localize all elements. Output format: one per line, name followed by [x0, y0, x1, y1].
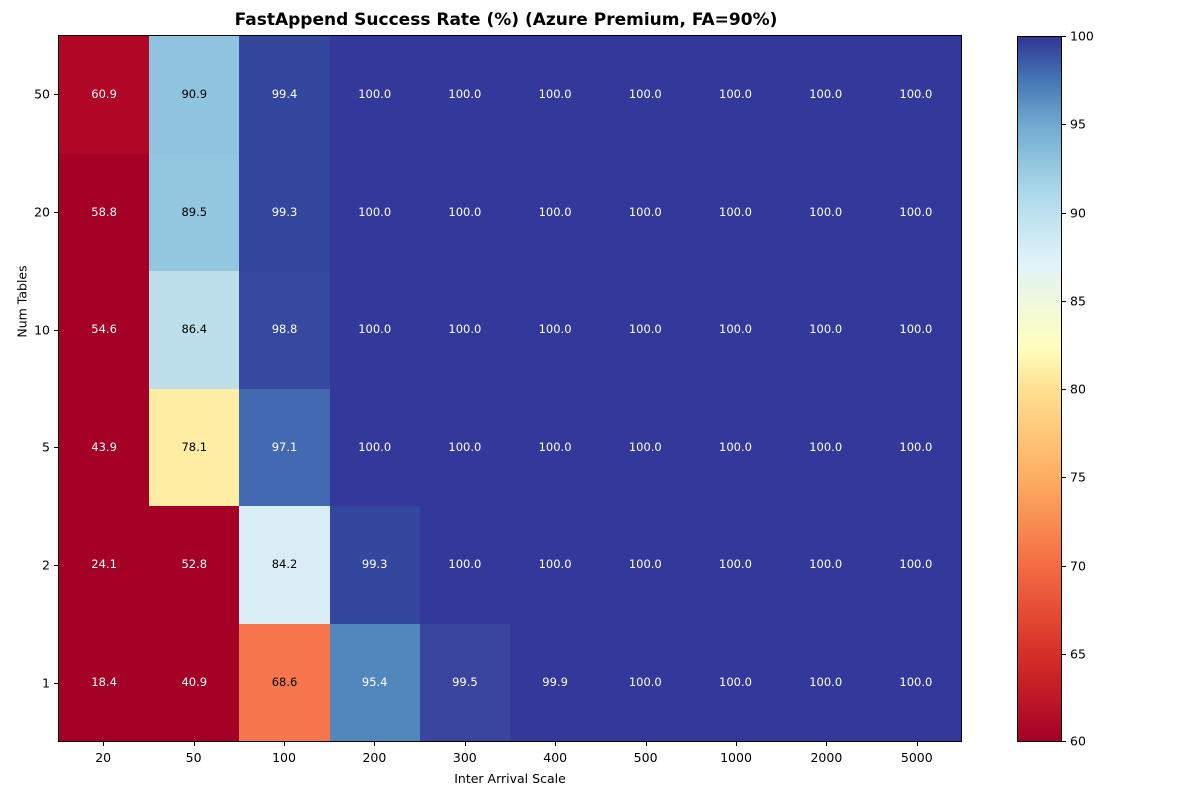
- heatmap-cell[interactable]: 58.8: [59, 154, 149, 272]
- heatmap-cell[interactable]: 60.9: [59, 36, 149, 154]
- heatmap-cell-value: 100.0: [629, 324, 662, 336]
- heatmap-cell-value: 89.5: [181, 207, 207, 219]
- y-tick-label: 20: [0, 204, 50, 219]
- heatmap-cell-value: 86.4: [181, 324, 207, 336]
- heatmap-cell[interactable]: 100.0: [420, 389, 510, 507]
- heatmap-cell-value: 100.0: [539, 324, 572, 336]
- heatmap-cell-value: 100.0: [899, 442, 932, 454]
- heatmap-cell[interactable]: 99.3: [330, 506, 420, 624]
- heatmap-cell-value: 99.3: [272, 207, 298, 219]
- heatmap-cell-value: 100.0: [629, 207, 662, 219]
- heatmap-cell[interactable]: 100.0: [781, 506, 871, 624]
- heatmap-cell[interactable]: 100.0: [871, 506, 961, 624]
- x-tick-mark: [736, 742, 737, 746]
- heatmap-cell[interactable]: 95.4: [330, 624, 420, 742]
- heatmap-cell[interactable]: 100.0: [871, 389, 961, 507]
- colorbar-tick-label: 80: [1070, 382, 1086, 397]
- heatmap-cell[interactable]: 100.0: [781, 624, 871, 742]
- heatmap-cell-value: 58.8: [91, 207, 117, 219]
- x-tick-label: 100: [272, 750, 296, 765]
- y-tick-label: 50: [0, 86, 50, 101]
- heatmap-cell-value: 99.9: [542, 677, 568, 689]
- y-axis-label: Num Tables: [15, 242, 30, 362]
- heatmap-cell-value: 95.4: [362, 677, 388, 689]
- heatmap-cell[interactable]: 100.0: [330, 154, 420, 272]
- figure-canvas: FastAppend Success Rate (%) (Azure Premi…: [0, 0, 1200, 800]
- colorbar-tick-label: 90: [1070, 205, 1086, 220]
- heatmap-cell[interactable]: 100.0: [420, 154, 510, 272]
- y-tick-mark: [54, 330, 58, 331]
- x-tick-label: 5000: [901, 750, 933, 765]
- heatmap-cell-value: 84.2: [272, 559, 298, 571]
- x-tick-label: 300: [453, 750, 477, 765]
- colorbar-tick-label: 60: [1070, 734, 1086, 749]
- x-tick-mark: [374, 742, 375, 746]
- heatmap-cell[interactable]: 100.0: [330, 389, 420, 507]
- heatmap-cell[interactable]: 100.0: [781, 389, 871, 507]
- x-tick-label: 500: [634, 750, 658, 765]
- x-tick-label: 1000: [720, 750, 752, 765]
- x-tick-label: 20: [95, 750, 111, 765]
- heatmap-cell[interactable]: 100.0: [600, 389, 690, 507]
- heatmap-cell-value: 99.3: [362, 559, 388, 571]
- heatmap-grid: 60.990.999.4100.0100.0100.0100.0100.0100…: [59, 36, 961, 741]
- colorbar-tick-mark: [1062, 566, 1066, 567]
- heatmap-cell-value: 52.8: [181, 559, 207, 571]
- heatmap-cell-value: 100.0: [448, 89, 481, 101]
- heatmap-cell[interactable]: 100.0: [420, 36, 510, 154]
- heatmap-cell-value: 100.0: [448, 442, 481, 454]
- heatmap-cell[interactable]: 100.0: [690, 389, 780, 507]
- heatmap-cell[interactable]: 100.0: [690, 271, 780, 389]
- heatmap-cell-value: 100.0: [719, 207, 752, 219]
- y-tick-label: 1: [0, 676, 50, 691]
- heatmap-cell-value: 100.0: [629, 89, 662, 101]
- x-tick-mark: [103, 742, 104, 746]
- colorbar-tick-mark: [1062, 213, 1066, 214]
- heatmap-cell[interactable]: 99.3: [239, 154, 329, 272]
- colorbar-tick-label: 75: [1070, 470, 1086, 485]
- colorbar-tick-label: 85: [1070, 293, 1086, 308]
- colorbar-tick-label: 70: [1070, 558, 1086, 573]
- heatmap-cell[interactable]: 100.0: [690, 624, 780, 742]
- heatmap-cell-value: 100.0: [539, 559, 572, 571]
- heatmap-cell-value: 100.0: [899, 207, 932, 219]
- heatmap-cell[interactable]: 100.0: [600, 624, 690, 742]
- heatmap-cell[interactable]: 100.0: [420, 506, 510, 624]
- heatmap-cell[interactable]: 100.0: [600, 506, 690, 624]
- heatmap-cell-value: 97.1: [272, 442, 298, 454]
- x-tick-mark: [917, 742, 918, 746]
- x-tick-label: 50: [186, 750, 202, 765]
- heatmap-cell[interactable]: 100.0: [510, 271, 600, 389]
- heatmap-cell[interactable]: 100.0: [330, 271, 420, 389]
- heatmap-cell[interactable]: 100.0: [510, 389, 600, 507]
- heatmap-cell-value: 18.4: [91, 677, 117, 689]
- y-tick-mark: [54, 94, 58, 95]
- heatmap-cell[interactable]: 100.0: [781, 154, 871, 272]
- colorbar-tick-label: 65: [1070, 646, 1086, 661]
- y-tick-label: 2: [0, 558, 50, 573]
- heatmap-cell-value: 100.0: [358, 442, 391, 454]
- y-tick-mark: [54, 683, 58, 684]
- heatmap-cell-value: 100.0: [448, 324, 481, 336]
- heatmap-cell-value: 100.0: [719, 677, 752, 689]
- colorbar-tick-mark: [1062, 301, 1066, 302]
- heatmap-cell-value: 100.0: [809, 207, 842, 219]
- heatmap-cell[interactable]: 100.0: [510, 36, 600, 154]
- heatmap-cell[interactable]: 54.6: [59, 271, 149, 389]
- x-tick-mark: [555, 742, 556, 746]
- colorbar-tick-mark: [1062, 36, 1066, 37]
- heatmap-cell[interactable]: 52.8: [149, 506, 239, 624]
- heatmap-cell-value: 100.0: [899, 559, 932, 571]
- colorbar-tick-mark: [1062, 124, 1066, 125]
- colorbar-tick-mark: [1062, 477, 1066, 478]
- heatmap-cell-value: 100.0: [809, 559, 842, 571]
- heatmap-cell[interactable]: 100.0: [600, 154, 690, 272]
- heatmap-cell-value: 100.0: [719, 559, 752, 571]
- heatmap-cell-value: 100.0: [539, 442, 572, 454]
- y-tick-mark: [54, 212, 58, 213]
- heatmap-cell[interactable]: 100.0: [781, 36, 871, 154]
- heatmap-cell-value: 100.0: [358, 207, 391, 219]
- heatmap-cell-value: 60.9: [91, 89, 117, 101]
- heatmap-cell[interactable]: 100.0: [871, 624, 961, 742]
- heatmap-cell[interactable]: 100.0: [690, 154, 780, 272]
- heatmap-cell[interactable]: 89.5: [149, 154, 239, 272]
- heatmap-cell[interactable]: 43.9: [59, 389, 149, 507]
- heatmap-cell[interactable]: 100.0: [871, 36, 961, 154]
- heatmap-cell[interactable]: 100.0: [420, 271, 510, 389]
- x-tick-label: 200: [362, 750, 386, 765]
- heatmap-cell[interactable]: 90.9: [149, 36, 239, 154]
- heatmap-cell-value: 100.0: [719, 89, 752, 101]
- colorbar-tick-mark: [1062, 741, 1066, 742]
- heatmap-cell[interactable]: 100.0: [871, 271, 961, 389]
- heatmap-cell[interactable]: 97.1: [239, 389, 329, 507]
- heatmap-cell[interactable]: 99.5: [420, 624, 510, 742]
- heatmap-cell-value: 90.9: [181, 89, 207, 101]
- colorbar-tick-mark: [1062, 654, 1066, 655]
- heatmap-cell[interactable]: 100.0: [330, 36, 420, 154]
- heatmap-cell-value: 100.0: [539, 89, 572, 101]
- heatmap-cell-value: 100.0: [809, 442, 842, 454]
- heatmap-cell-value: 100.0: [448, 207, 481, 219]
- heatmap-cell[interactable]: 78.1: [149, 389, 239, 507]
- x-tick-label: 400: [543, 750, 567, 765]
- heatmap-cell-value: 100.0: [629, 677, 662, 689]
- page-title: FastAppend Success Rate (%) (Azure Premi…: [0, 10, 1012, 30]
- x-tick-mark: [194, 742, 195, 746]
- x-tick-mark: [284, 742, 285, 746]
- heatmap-cell-value: 100.0: [899, 324, 932, 336]
- heatmap-cell-value: 100.0: [629, 442, 662, 454]
- x-tick-label: 2000: [810, 750, 842, 765]
- heatmap-cell[interactable]: 100.0: [781, 271, 871, 389]
- heatmap-cell[interactable]: 100.0: [871, 154, 961, 272]
- heatmap-cell[interactable]: 100.0: [690, 36, 780, 154]
- x-tick-mark: [646, 742, 647, 746]
- heatmap-cell-value: 100.0: [899, 89, 932, 101]
- heatmap-cell-value: 98.8: [272, 324, 298, 336]
- heatmap-cell-value: 100.0: [809, 324, 842, 336]
- heatmap-cell[interactable]: 24.1: [59, 506, 149, 624]
- heatmap-cell[interactable]: 98.8: [239, 271, 329, 389]
- heatmap-cell[interactable]: 100.0: [690, 506, 780, 624]
- heatmap-cell-value: 100.0: [358, 89, 391, 101]
- heatmap-cell-value: 100.0: [358, 324, 391, 336]
- heatmap-plot-area[interactable]: 60.990.999.4100.0100.0100.0100.0100.0100…: [58, 35, 962, 742]
- x-tick-mark: [826, 742, 827, 746]
- heatmap-cell-value: 100.0: [539, 207, 572, 219]
- heatmap-cell[interactable]: 99.4: [239, 36, 329, 154]
- heatmap-cell-value: 100.0: [809, 677, 842, 689]
- colorbar-tick-label: 100: [1070, 29, 1094, 44]
- y-tick-mark: [54, 447, 58, 448]
- colorbar-gradient: [1017, 36, 1062, 742]
- colorbar[interactable]: 1009590858075706560: [1017, 36, 1062, 742]
- heatmap-cell[interactable]: 18.4: [59, 624, 149, 742]
- y-tick-label: 5: [0, 440, 50, 455]
- heatmap-cell[interactable]: 99.9: [510, 624, 600, 742]
- heatmap-cell-value: 54.6: [91, 324, 117, 336]
- heatmap-cell-value: 24.1: [91, 559, 117, 571]
- heatmap-cell[interactable]: 100.0: [600, 36, 690, 154]
- heatmap-cell-value: 100.0: [629, 559, 662, 571]
- heatmap-cell-value: 78.1: [181, 442, 207, 454]
- colorbar-tick-mark: [1062, 389, 1066, 390]
- heatmap-cell-value: 100.0: [899, 677, 932, 689]
- heatmap-cell-value: 100.0: [448, 559, 481, 571]
- x-tick-mark: [465, 742, 466, 746]
- heatmap-cell[interactable]: 100.0: [510, 506, 600, 624]
- heatmap-cell-value: 68.6: [272, 677, 298, 689]
- heatmap-cell-value: 99.5: [452, 677, 478, 689]
- heatmap-cell[interactable]: 100.0: [600, 271, 690, 389]
- heatmap-cell[interactable]: 84.2: [239, 506, 329, 624]
- heatmap-cell-value: 100.0: [719, 324, 752, 336]
- heatmap-cell[interactable]: 86.4: [149, 271, 239, 389]
- heatmap-cell-value: 43.9: [91, 442, 117, 454]
- heatmap-cell-value: 40.9: [181, 677, 207, 689]
- heatmap-cell-value: 100.0: [719, 442, 752, 454]
- y-tick-mark: [54, 565, 58, 566]
- x-axis-label: Inter Arrival Scale: [58, 771, 962, 786]
- heatmap-cell[interactable]: 68.6: [239, 624, 329, 742]
- heatmap-cell[interactable]: 40.9: [149, 624, 239, 742]
- heatmap-cell-value: 99.4: [272, 89, 298, 101]
- heatmap-cell[interactable]: 100.0: [510, 154, 600, 272]
- colorbar-tick-label: 95: [1070, 117, 1086, 132]
- heatmap-cell-value: 100.0: [809, 89, 842, 101]
